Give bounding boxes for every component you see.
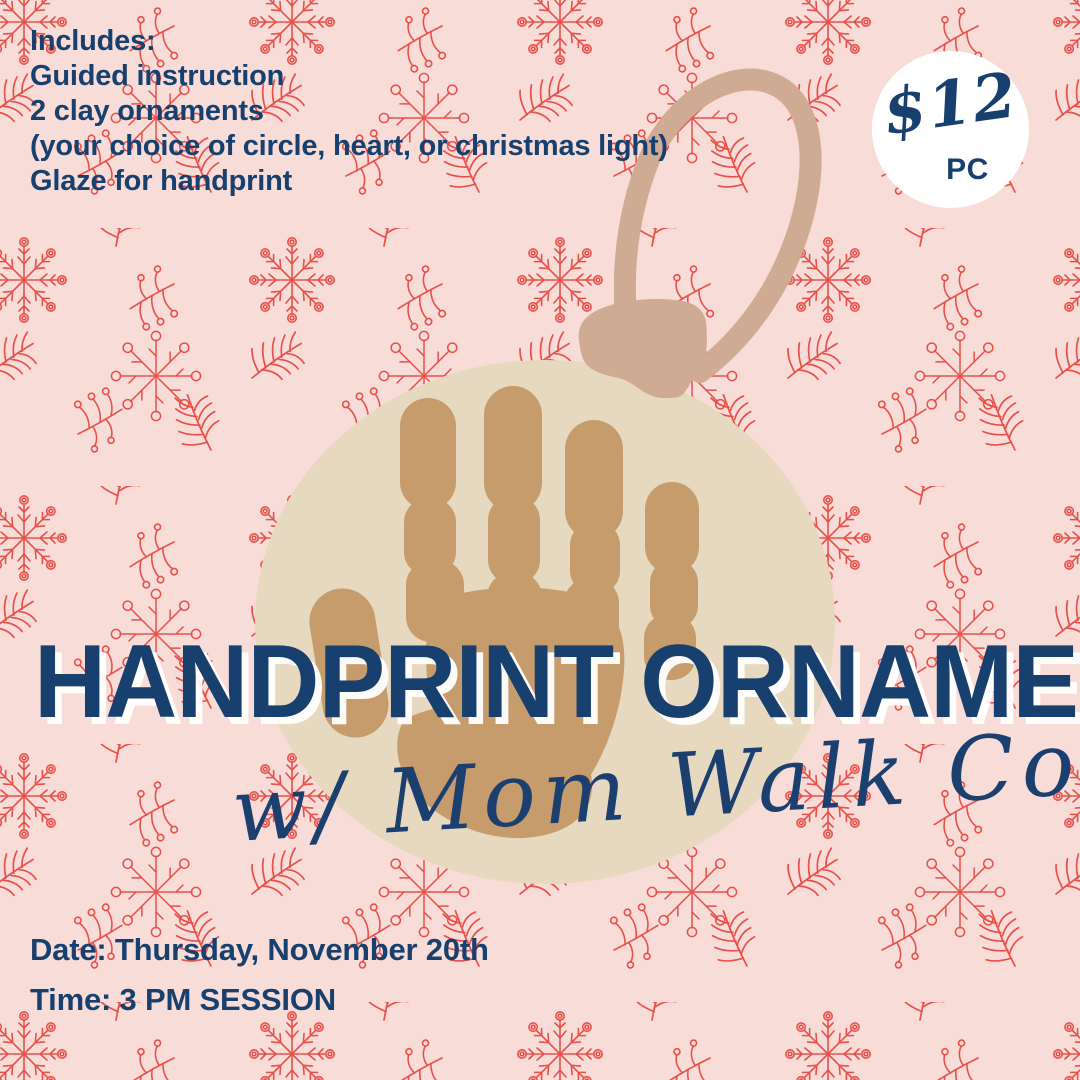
includes-line-clay: 2 clay ornaments — [30, 94, 668, 129]
price-badge: $12 PC — [872, 51, 1029, 208]
schedule-date: Date: Thursday, November 20th — [30, 925, 489, 975]
schedule-time: Time: 3 PM SESSION — [30, 975, 489, 1025]
price-unit: PC — [872, 155, 1029, 185]
price-amount: $12 — [868, 62, 1032, 145]
includes-line-heading: Includes: — [30, 24, 668, 59]
ornament-cap — [579, 299, 707, 398]
includes-text-block: Includes: Guided instruction 2 clay orna… — [30, 24, 668, 199]
poster-canvas: Includes: Guided instruction 2 clay orna… — [0, 0, 1080, 1080]
schedule-block: Date: Thursday, November 20th Time: 3 PM… — [30, 925, 489, 1025]
includes-line-choice: (your choice of circle, heart, or christ… — [30, 129, 668, 164]
includes-line-guided: Guided instruction — [30, 59, 668, 94]
includes-line-glaze: Glaze for handprint — [30, 164, 668, 199]
